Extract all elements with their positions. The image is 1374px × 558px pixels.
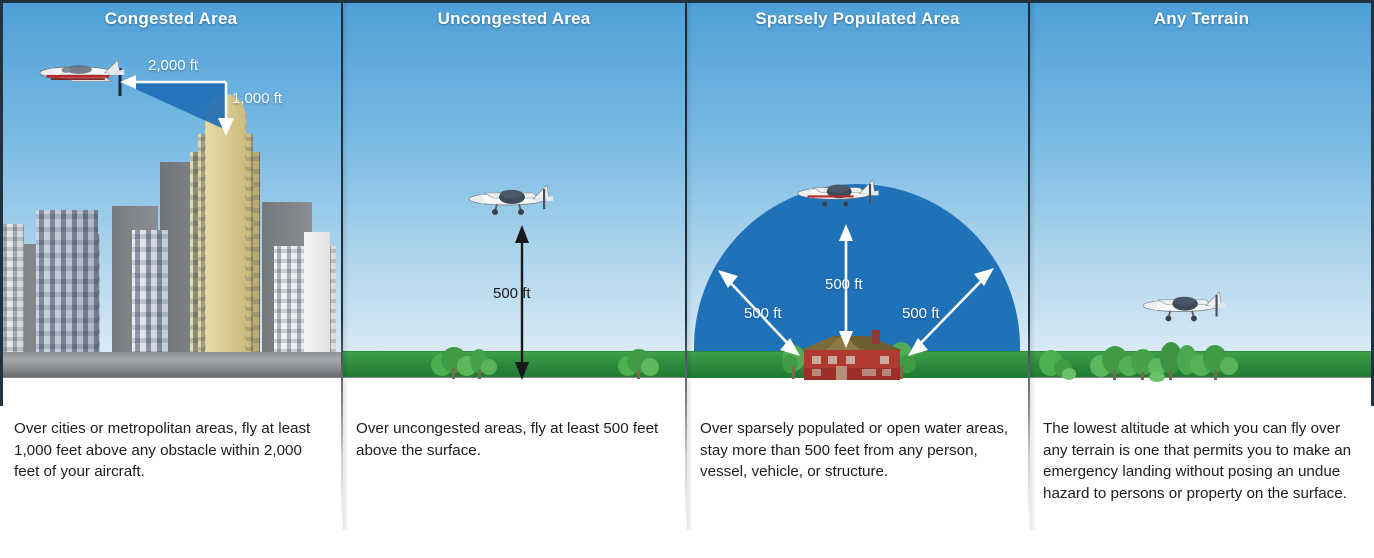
panel-title-sparsely-populated: Sparsely Populated Area: [686, 9, 1029, 29]
grass-strip: [342, 351, 686, 378]
panel-congested-area: 2,000 ft 1,000 ft Congested Area Over ci…: [0, 0, 342, 558]
label-2000-ft: 2,000 ft: [148, 57, 198, 74]
label-500-ft-right: 500 ft: [902, 305, 940, 322]
scene-uncongested-area: 500 ft: [342, 0, 686, 406]
grass-strip: [1029, 351, 1374, 378]
panel-divider-1: [341, 0, 343, 530]
minimum-safe-altitudes-infographic: 2,000 ft 1,000 ft Congested Area Over ci…: [0, 0, 1374, 558]
building-white-far-left: [0, 224, 24, 352]
city-skyline: [0, 78, 342, 378]
caption-any-terrain: The lowest altitude at which you can fly…: [1029, 418, 1374, 504]
panel-title-congested: Congested Area: [0, 9, 342, 29]
panel-divider-2: [685, 0, 687, 530]
window-grid: [36, 210, 98, 352]
divider-shadow-2: [687, 0, 693, 530]
scene-base-strip: [686, 378, 1029, 406]
label-500-ft: 500 ft: [493, 285, 531, 302]
building-stepped-top: [36, 210, 98, 352]
scene-sparsely-populated: 500 ft 500 ft 500 ft: [686, 0, 1029, 406]
panel-sparsely-populated-area: 500 ft 500 ft 500 ft Sparsely Populated …: [686, 0, 1029, 558]
divider-shadow-1: [343, 0, 349, 530]
frame-top-border: [0, 0, 1374, 3]
divider-shadow-3: [1030, 0, 1036, 530]
grass-strip: [686, 351, 1029, 378]
panel-divider-3: [1028, 0, 1030, 530]
building-white-right-penthouse: [304, 232, 330, 352]
scene-any-terrain: [1029, 0, 1374, 406]
building-glass-center: [132, 230, 168, 352]
panel-any-terrain: Any Terrain The lowest altitude at which…: [1029, 0, 1374, 558]
panel-uncongested-area: 500 ft Uncongested Area Over uncongested…: [342, 0, 686, 558]
scene-base-strip: [342, 378, 686, 406]
window-grid: [0, 224, 24, 352]
scene-base-strip: [1029, 378, 1374, 406]
sky-gradient: [342, 0, 686, 406]
panel-title-uncongested: Uncongested Area: [342, 9, 686, 29]
window-grid: [132, 230, 168, 352]
frame-left-border: [0, 0, 3, 406]
panel-title-any-terrain: Any Terrain: [1029, 9, 1374, 29]
label-1000-ft: 1,000 ft: [232, 90, 282, 107]
caption-uncongested: Over uncongested areas, fly at least 500…: [342, 418, 686, 461]
tower-dome-cap: [206, 94, 245, 352]
scene-base-strip: [0, 378, 342, 406]
scene-congested-area: 2,000 ft 1,000 ft: [0, 0, 342, 406]
caption-congested: Over cities or metropolitan areas, fly a…: [0, 418, 342, 483]
label-500-ft-top: 500 ft: [825, 276, 863, 293]
sky-gradient: [1029, 0, 1374, 406]
caption-sparsely-populated: Over sparsely populated or open water ar…: [686, 418, 1029, 483]
label-500-ft-left: 500 ft: [744, 305, 782, 322]
